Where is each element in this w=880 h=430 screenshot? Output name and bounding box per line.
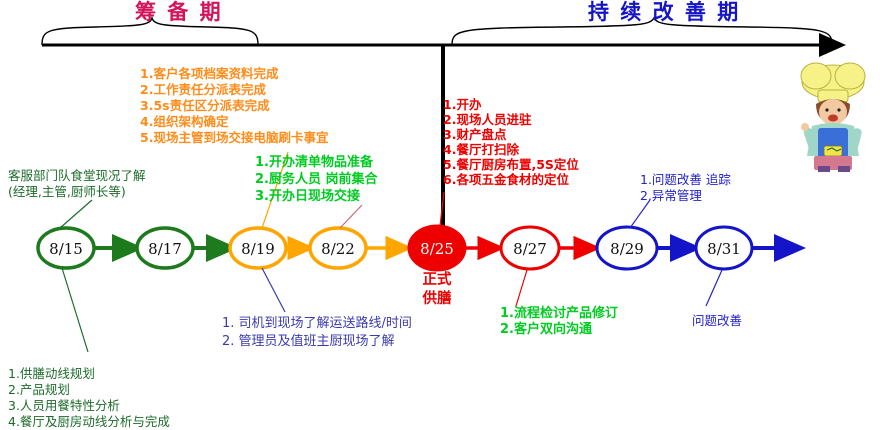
note-blue-improve-2: 2.异常管理 xyxy=(640,188,702,203)
note-green-process-1: 1.流程检讨产品修订 xyxy=(500,306,618,322)
timeline-diagram: 筹 备 期 持 续 改 善 期 1.客户各项档案资料完成 2.工作责任分派表完成… xyxy=(0,0,880,430)
leader-problem-to-8-31 xyxy=(706,270,722,306)
note-orange-prep-4: 4.组织架构确定 xyxy=(140,114,228,129)
note-green-survey-1: 客服部门队食堂现况了解 xyxy=(8,168,146,183)
note-green-planning-3: 3.人员用餐特性分析 xyxy=(8,398,120,413)
note-green-open-3: 3.开办日现场交接 xyxy=(255,189,360,205)
note-orange-prep-1: 1.客户各项档案资料完成 xyxy=(140,66,278,81)
milestone-label-line1: 正式 xyxy=(402,272,472,289)
note-green-survey-2: (经理,主管,厨师长等) xyxy=(8,184,126,199)
phase-label-preparation: 筹 备 期 xyxy=(135,0,223,26)
chef-character-icon xyxy=(801,63,865,172)
node-label-8-27[interactable]: 8/27 xyxy=(507,240,553,258)
milestone-label-line2: 供膳 xyxy=(402,291,472,308)
node-label-8-25[interactable]: 8/25 xyxy=(414,240,460,258)
note-red-open-2: 2.现场人员进驻 xyxy=(443,112,531,127)
note-orange-prep-3: 3.5s责任区分派表完成 xyxy=(140,98,270,113)
leader-greenopen-to-8-22 xyxy=(340,205,362,228)
note-indigo-driver-1: 1. 司机到现场了解运送路线/时间 xyxy=(222,316,412,332)
note-orange-prep-2: 2.工作责任分派表完成 xyxy=(140,82,266,97)
note-blue-problem-improve: 问题改善 xyxy=(692,313,742,328)
note-red-open-5: 5.餐厅厨房布置,5S定位 xyxy=(443,157,579,172)
note-green-planning-4: 4.餐厅及厨房动线分析与完成 xyxy=(8,414,170,429)
note-red-open-1: 1.开办 xyxy=(443,97,481,112)
note-green-open-2: 2.厨务人员 岗前集合 xyxy=(255,172,378,188)
phase-label-continuous: 持 续 改 善 期 xyxy=(588,0,740,26)
note-red-open-6: 6.各项五金食材的定位 xyxy=(443,172,569,187)
diagram-canvas xyxy=(0,0,880,430)
note-green-process-2: 2.客户双向沟通 xyxy=(500,322,592,338)
node-label-8-29[interactable]: 8/29 xyxy=(604,240,650,258)
note-indigo-driver-2: 2. 管理员及值班主厨现场了解 xyxy=(222,334,395,350)
node-label-8-15[interactable]: 8/15 xyxy=(43,240,89,258)
node-label-8-17[interactable]: 8/17 xyxy=(142,240,188,258)
node-label-8-22[interactable]: 8/22 xyxy=(315,240,361,258)
leader-planning-to-8-15 xyxy=(62,268,88,352)
leader-driver-to-8-19 xyxy=(262,268,285,312)
note-green-planning-1: 1.供膳动线规划 xyxy=(8,366,95,381)
node-label-8-31[interactable]: 8/31 xyxy=(701,240,747,258)
note-green-open-1: 1.开办清单物品准备 xyxy=(255,155,373,171)
leader-survey-to-8-15 xyxy=(60,200,92,228)
leader-process-to-8-27 xyxy=(516,270,527,306)
note-orange-prep-5: 5.现场主管到场交接电脑刷卡事宜 xyxy=(140,130,328,145)
note-red-open-3: 3.财产盘点 xyxy=(443,127,506,142)
note-green-planning-2: 2.产品规划 xyxy=(8,382,70,397)
note-red-open-4: 4.餐厅打扫除 xyxy=(443,142,519,157)
node-label-8-19[interactable]: 8/19 xyxy=(235,240,281,258)
note-blue-improve-1: 1.问题改善 追踪 xyxy=(640,172,731,187)
leader-blueimprove-to-8-29 xyxy=(630,200,650,228)
